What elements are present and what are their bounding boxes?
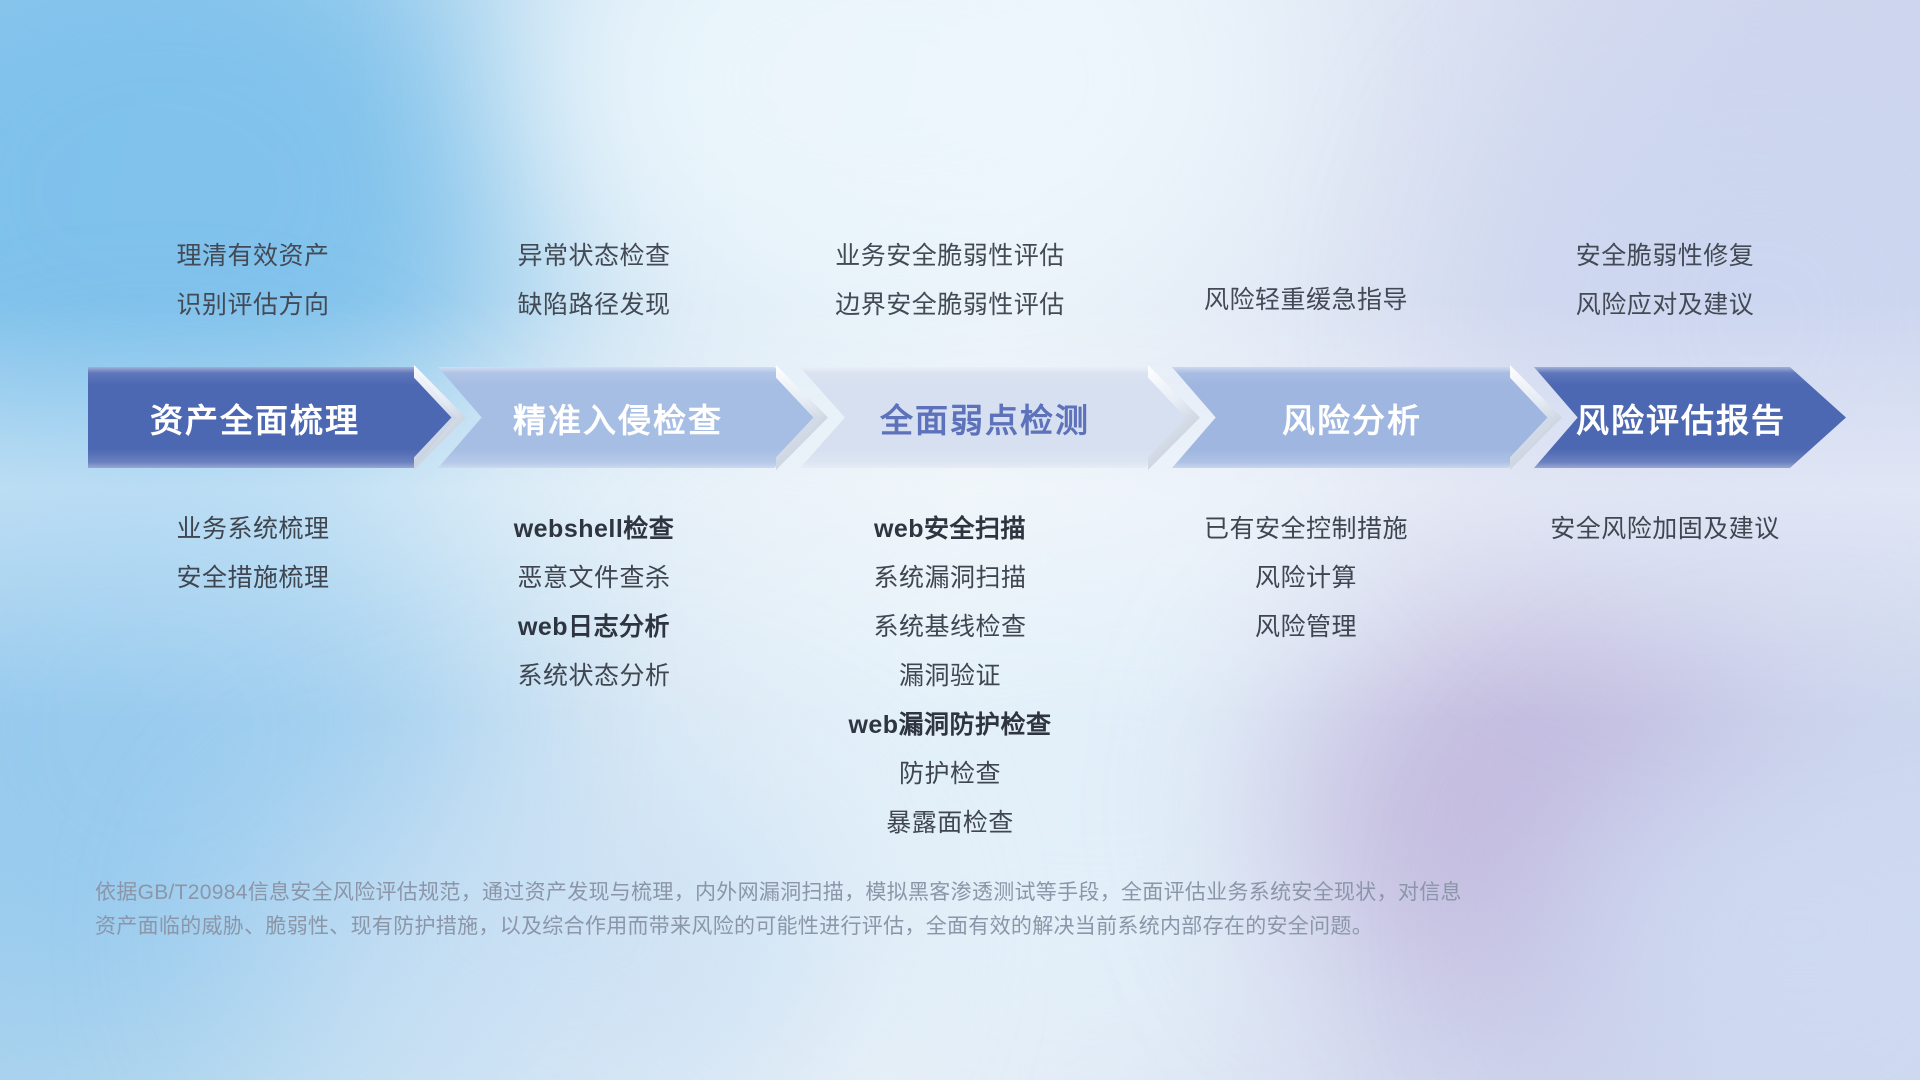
- top-label: 缺陷路径发现: [517, 281, 670, 330]
- items-stage-1: 业务系统梳理 安全措施梳理: [88, 505, 418, 603]
- top-labels-stage-4: 风险轻重缓急指导: [1130, 232, 1482, 344]
- top-label: 理清有效资产: [176, 232, 329, 281]
- list-item: 业务系统梳理: [176, 505, 329, 554]
- top-label-row: 理清有效资产 识别评估方向 异常状态检查 缺陷路径发现 业务安全脆弱性评估 边界…: [88, 232, 1848, 344]
- list-item: 系统状态分析: [517, 652, 670, 701]
- top-labels-stage-5: 安全脆弱性修复 风险应对及建议: [1482, 232, 1848, 344]
- top-labels-stage-1: 理清有效资产 识别评估方向: [88, 232, 418, 344]
- top-label: 风险应对及建议: [1576, 281, 1755, 330]
- chevron-label: 全面弱点检测: [880, 394, 1090, 442]
- list-item: 安全风险加固及建议: [1550, 505, 1780, 554]
- list-item: 暴露面检查: [886, 799, 1014, 848]
- top-label: 异常状态检查: [517, 232, 670, 281]
- list-item: 风险管理: [1255, 603, 1357, 652]
- diagram-stage: 理清有效资产 识别评估方向 异常状态检查 缺陷路径发现 业务安全脆弱性评估 边界…: [0, 0, 1920, 1080]
- list-item: 恶意文件查杀: [517, 554, 670, 603]
- footer-line-2: 资产面临的威胁、脆弱性、现有防护措施，以及综合作用而带来风险的可能性进行评估，全…: [95, 910, 1655, 944]
- top-label: 安全脆弱性修复: [1576, 232, 1755, 281]
- list-item: 安全措施梳理: [176, 554, 329, 603]
- list-item: 风险计算: [1255, 554, 1357, 603]
- chevron-stage-5[interactable]: 风险评估报告: [1534, 367, 1846, 468]
- chevron-stage-2[interactable]: 精准入侵检查: [438, 367, 818, 468]
- list-item: 漏洞验证: [899, 652, 1001, 701]
- chevron-label: 资产全面梳理: [150, 394, 360, 442]
- top-label: 识别评估方向: [176, 281, 329, 330]
- list-item: webshell检查: [514, 505, 675, 554]
- items-stage-4: 已有安全控制措施 风险计算 风险管理: [1130, 505, 1482, 652]
- top-label: 风险轻重缓急指导: [1204, 276, 1408, 325]
- bottom-item-row: 业务系统梳理 安全措施梳理 webshell检查 恶意文件查杀 web日志分析 …: [88, 505, 1848, 848]
- chevron-label: 风险分析: [1282, 394, 1422, 442]
- list-item: web漏洞防护检查: [848, 701, 1051, 750]
- chevron-stage-3[interactable]: 全面弱点检测: [800, 367, 1190, 468]
- list-item: 防护检查: [899, 750, 1001, 799]
- list-item: 系统漏洞扫描: [873, 554, 1026, 603]
- items-stage-3: web安全扫描 系统漏洞扫描 系统基线检查 漏洞验证 web漏洞防护检查 防护检…: [770, 505, 1130, 848]
- chevron-label: 精准入侵检查: [513, 394, 723, 442]
- top-label: 边界安全脆弱性评估: [835, 281, 1065, 330]
- top-label: 业务安全脆弱性评估: [835, 232, 1065, 281]
- chevron-label: 风险评估报告: [1576, 394, 1786, 442]
- chevron-stage-1[interactable]: 资产全面梳理: [88, 367, 456, 468]
- process-chevron-banner: 资产全面梳理 精准入侵检查 全面弱点检测 风险分析 风险评估报告: [88, 367, 1846, 468]
- list-item: 系统基线检查: [873, 603, 1026, 652]
- chevron-stage-4[interactable]: 风险分析: [1172, 367, 1552, 468]
- list-item: web日志分析: [518, 603, 670, 652]
- list-item: web安全扫描: [874, 505, 1026, 554]
- footer-description: 依据GB/T20984信息安全风险评估规范，通过资产发现与梳理，内外网漏洞扫描，…: [95, 876, 1655, 944]
- list-item: 已有安全控制措施: [1204, 505, 1408, 554]
- footer-line-1: 依据GB/T20984信息安全风险评估规范，通过资产发现与梳理，内外网漏洞扫描，…: [95, 876, 1655, 910]
- items-stage-2: webshell检查 恶意文件查杀 web日志分析 系统状态分析: [418, 505, 770, 701]
- top-labels-stage-3: 业务安全脆弱性评估 边界安全脆弱性评估: [770, 232, 1130, 344]
- items-stage-5: 安全风险加固及建议: [1482, 505, 1848, 554]
- top-labels-stage-2: 异常状态检查 缺陷路径发现: [418, 232, 770, 344]
